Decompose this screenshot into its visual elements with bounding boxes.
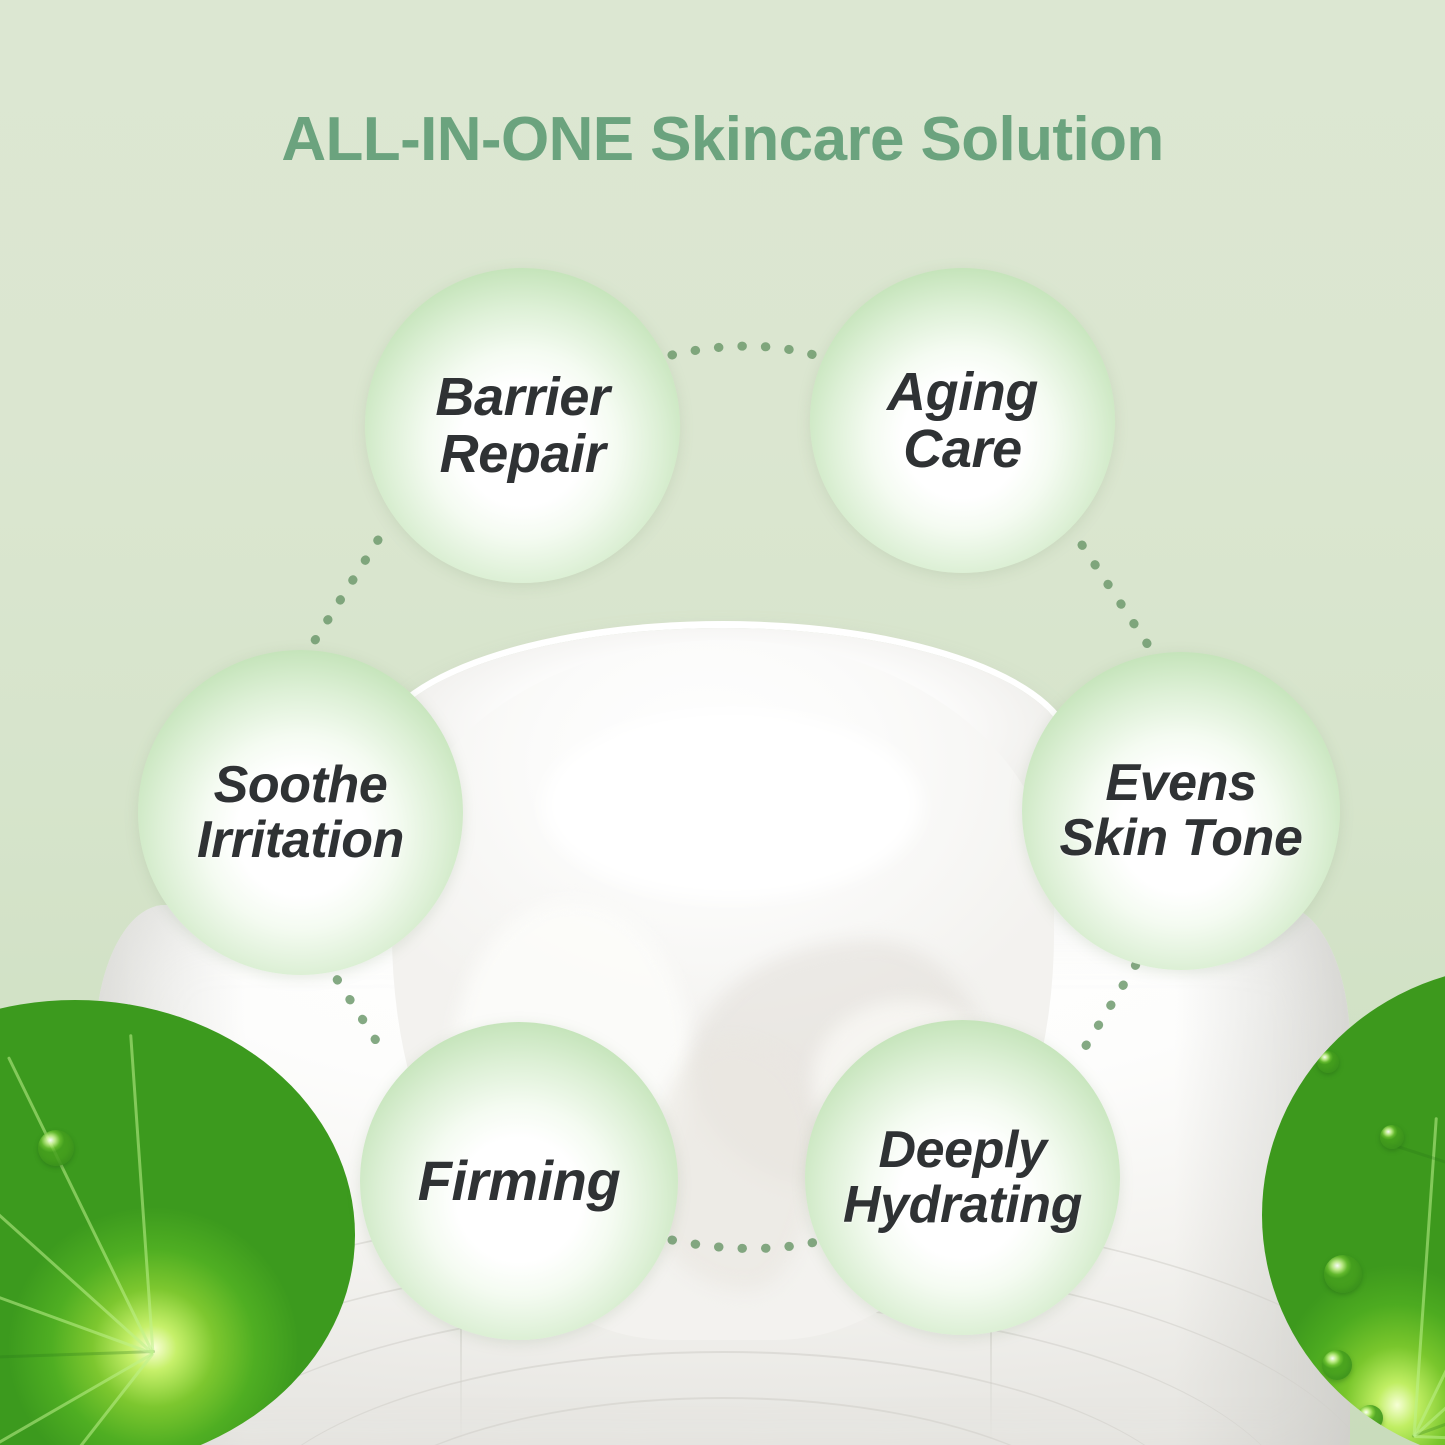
benefit-bubble-deeply-hydrating[interactable]: Deeply Hydrating [805,1020,1120,1335]
benefit-bubble-aging-care[interactable]: Aging Care [810,268,1115,573]
water-droplet [1380,1125,1404,1149]
benefit-bubble-firming[interactable]: Firming [360,1022,678,1340]
benefit-label: Aging Care [877,364,1048,477]
benefit-label: Deeply Hydrating [833,1123,1092,1232]
benefit-bubble-barrier-repair[interactable]: Barrier Repair [365,268,680,583]
benefit-label: Evens Skin Tone [1050,756,1313,865]
water-droplet [1322,1350,1352,1380]
benefit-bubble-soothe-irritation[interactable]: Soothe Irritation [138,650,463,975]
benefit-label: Firming [408,1152,631,1211]
page-title: ALL-IN-ONE Skincare Solution [0,104,1445,175]
benefit-bubble-evens-skin-tone[interactable]: Evens Skin Tone [1022,652,1340,970]
benefit-label: Barrier Repair [425,369,619,482]
infographic-canvas: ALL-IN-ONE Skincare Solution Barrier Rep… [0,0,1445,1445]
water-droplet [38,1130,74,1166]
water-droplet [1317,1051,1339,1073]
benefit-label: Soothe Irritation [187,758,414,867]
water-droplet [1324,1255,1362,1293]
water-droplet [1357,1405,1383,1431]
